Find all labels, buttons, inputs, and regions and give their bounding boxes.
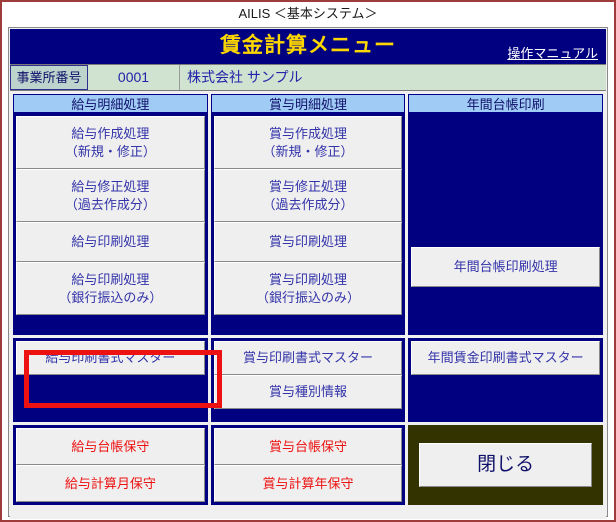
menu-body: 給与明細処理 給与作成処理 （新規・修正） 給与修正処理 （過去作成分） 給与印… xyxy=(10,91,606,519)
annual-wage-print-format-master-label: 年間賃金印刷書式マスター xyxy=(428,349,584,367)
bonus-modify-line2: （過去作成分） xyxy=(263,196,354,214)
salary-modify-line1: 給与修正処理 xyxy=(71,178,149,196)
company-name-value: 株式会社 サンプル xyxy=(180,65,606,90)
application-frame: 賃金計算メニュー 操作マニュアル 事業所番号 0001 株式会社 サンプル 給与… xyxy=(8,27,608,517)
salary-master-group: 給与印刷書式マスター xyxy=(13,338,208,422)
bonus-print-bank-line2: （銀行振込のみ） xyxy=(256,289,360,307)
annual-bottom-filler xyxy=(411,287,600,332)
bonus-print-bank-line1: 賞与印刷処理 xyxy=(269,271,347,289)
bonus-print-bank-button[interactable]: 賞与印刷処理 （銀行振込のみ） xyxy=(214,262,403,315)
bonus-create-button[interactable]: 賞与作成処理 （新規・修正） xyxy=(214,116,403,169)
office-info-strip: 事業所番号 0001 株式会社 サンプル xyxy=(10,64,606,91)
bonus-type-info-button[interactable]: 賞与種別情報 xyxy=(214,375,403,409)
menu-columns: 給与明細処理 給与作成処理 （新規・修正） 給与修正処理 （過去作成分） 給与印… xyxy=(13,94,603,515)
close-button[interactable]: 閉じる xyxy=(419,443,592,487)
column-header-salary: 給与明細処理 xyxy=(13,94,208,113)
salary-print-button[interactable]: 給与印刷処理 xyxy=(16,222,205,262)
bonus-print-line1: 賞与印刷処理 xyxy=(269,233,347,251)
bonus-print-format-master-button[interactable]: 賞与印刷書式マスター xyxy=(214,341,403,375)
salary-maintenance-group: 給与台帳保守 給与計算月保守 xyxy=(13,425,208,505)
bonus-ledger-maintenance-label: 賞与台帳保守 xyxy=(269,438,347,456)
annual-top-filler xyxy=(411,116,600,247)
annual-ledger-print-button[interactable]: 年間台帳印刷処理 xyxy=(411,247,600,287)
salary-create-line1: 給与作成処理 xyxy=(71,125,149,143)
salary-print-format-master-label: 給与印刷書式マスター xyxy=(45,349,175,367)
office-number-label: 事業所番号 xyxy=(10,65,88,90)
bonus-modify-line1: 賞与修正処理 xyxy=(269,178,347,196)
salary-main-group: 給与作成処理 （新規・修正） 給与修正処理 （過去作成分） 給与印刷処理 給与印… xyxy=(13,113,208,335)
salary-print-bank-line2: （銀行振込のみ） xyxy=(58,289,162,307)
bonus-create-line1: 賞与作成処理 xyxy=(269,125,347,143)
column-bonus: 賞与明細処理 賞与作成処理 （新規・修正） 賞与修正処理 （過去作成分） 賞与印… xyxy=(211,94,406,515)
bonus-main-group: 賞与作成処理 （新規・修正） 賞与修正処理 （過去作成分） 賞与印刷処理 賞与印… xyxy=(211,113,406,335)
column-header-bonus: 賞与明細処理 xyxy=(211,94,406,113)
annual-main-group: 年間台帳印刷処理 xyxy=(408,113,603,335)
salary-ledger-maintenance-button[interactable]: 給与台帳保守 xyxy=(16,428,205,465)
annual-master-filler xyxy=(411,375,600,419)
bonus-maintenance-group: 賞与台帳保守 賞与計算年保守 xyxy=(211,425,406,505)
bonus-type-info-label: 賞与種別情報 xyxy=(269,383,347,401)
bonus-modify-button[interactable]: 賞与修正処理 （過去作成分） xyxy=(214,169,403,222)
salary-modify-button[interactable]: 給与修正処理 （過去作成分） xyxy=(16,169,205,222)
close-group: 閉じる xyxy=(408,425,603,505)
salary-print-line1: 給与印刷処理 xyxy=(71,233,149,251)
column-salary: 給与明細処理 給与作成処理 （新規・修正） 給与修正処理 （過去作成分） 給与印… xyxy=(13,94,208,515)
menu-banner: 賃金計算メニュー 操作マニュアル xyxy=(10,29,606,64)
salary-print-bank-button[interactable]: 給与印刷処理 （銀行振込のみ） xyxy=(16,262,205,315)
column-header-annual: 年間台帳印刷 xyxy=(408,94,603,113)
salary-print-bank-line1: 給与印刷処理 xyxy=(71,271,149,289)
close-button-label: 閉じる xyxy=(477,456,534,474)
office-number-value: 0001 xyxy=(88,65,180,90)
salary-create-button[interactable]: 給与作成処理 （新規・修正） xyxy=(16,116,205,169)
bonus-ledger-maintenance-button[interactable]: 賞与台帳保守 xyxy=(214,428,403,465)
salary-month-maintenance-label: 給与計算月保守 xyxy=(65,475,156,493)
operation-manual-link[interactable]: 操作マニュアル xyxy=(507,43,598,62)
bonus-year-maintenance-button[interactable]: 賞与計算年保守 xyxy=(214,465,403,502)
bonus-print-button[interactable]: 賞与印刷処理 xyxy=(214,222,403,262)
annual-master-group: 年間賃金印刷書式マスター xyxy=(408,338,603,422)
salary-month-maintenance-button[interactable]: 給与計算月保守 xyxy=(16,465,205,502)
annual-wage-print-format-master-button[interactable]: 年間賃金印刷書式マスター xyxy=(411,341,600,375)
salary-master-filler xyxy=(16,375,205,419)
bonus-create-line2: （新規・修正） xyxy=(263,143,354,161)
bonus-year-maintenance-label: 賞与計算年保守 xyxy=(263,475,354,493)
window-title: AILIS ＜基本システム＞ xyxy=(2,2,614,26)
column-annual: 年間台帳印刷 年間台帳印刷処理 年間賃金印刷書式マスター xyxy=(408,94,603,515)
bonus-print-format-master-label: 賞与印刷書式マスター xyxy=(243,349,373,367)
salary-modify-line2: （過去作成分） xyxy=(65,196,156,214)
salary-print-format-master-button[interactable]: 給与印刷書式マスター xyxy=(16,341,205,375)
salary-create-line2: （新規・修正） xyxy=(65,143,156,161)
salary-ledger-maintenance-label: 給与台帳保守 xyxy=(71,438,149,456)
bonus-master-group: 賞与印刷書式マスター 賞与種別情報 xyxy=(211,338,406,422)
annual-ledger-print-label: 年間台帳印刷処理 xyxy=(454,258,558,276)
